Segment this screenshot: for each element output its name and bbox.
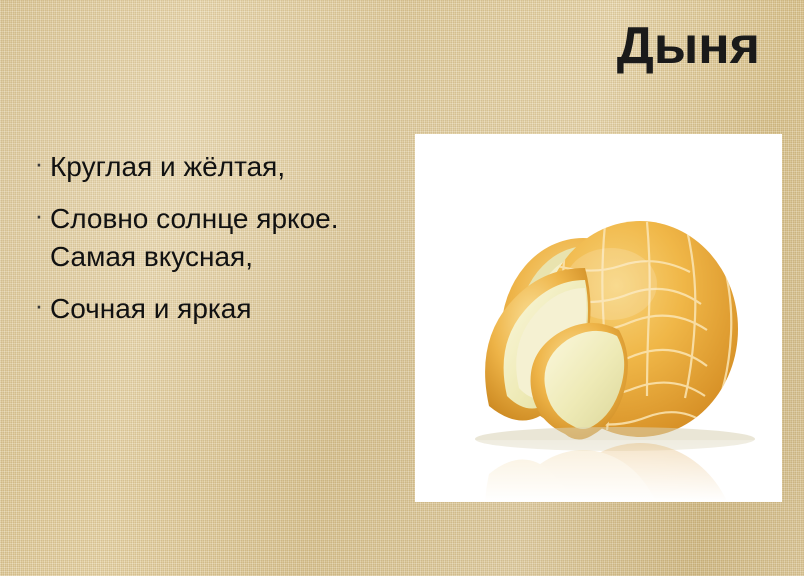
- list-item: · Сочная и яркая: [28, 290, 418, 328]
- list-item: · Круглая и жёлтая,: [28, 148, 418, 186]
- page-title: Дыня: [0, 18, 760, 75]
- list-item-text: Словно солнце яркое. Самая вкусная,: [50, 200, 418, 276]
- slide: Дыня · Круглая и жёлтая, · Словно солнце…: [0, 0, 804, 576]
- bullet-marker-icon: ·: [28, 290, 50, 320]
- bullet-marker-icon: ·: [28, 148, 50, 178]
- bullet-marker-icon: ·: [28, 200, 50, 230]
- list-item-text: Сочная и яркая: [50, 290, 418, 328]
- melon-photo-frame: [415, 134, 782, 502]
- list-item: · Словно солнце яркое. Самая вкусная,: [28, 200, 418, 276]
- list-item-text: Круглая и жёлтая,: [50, 148, 418, 186]
- melon-photo: [415, 134, 782, 502]
- melon-illustration-icon: [415, 134, 782, 502]
- bullet-list: · Круглая и жёлтая, · Словно солнце ярко…: [28, 148, 418, 342]
